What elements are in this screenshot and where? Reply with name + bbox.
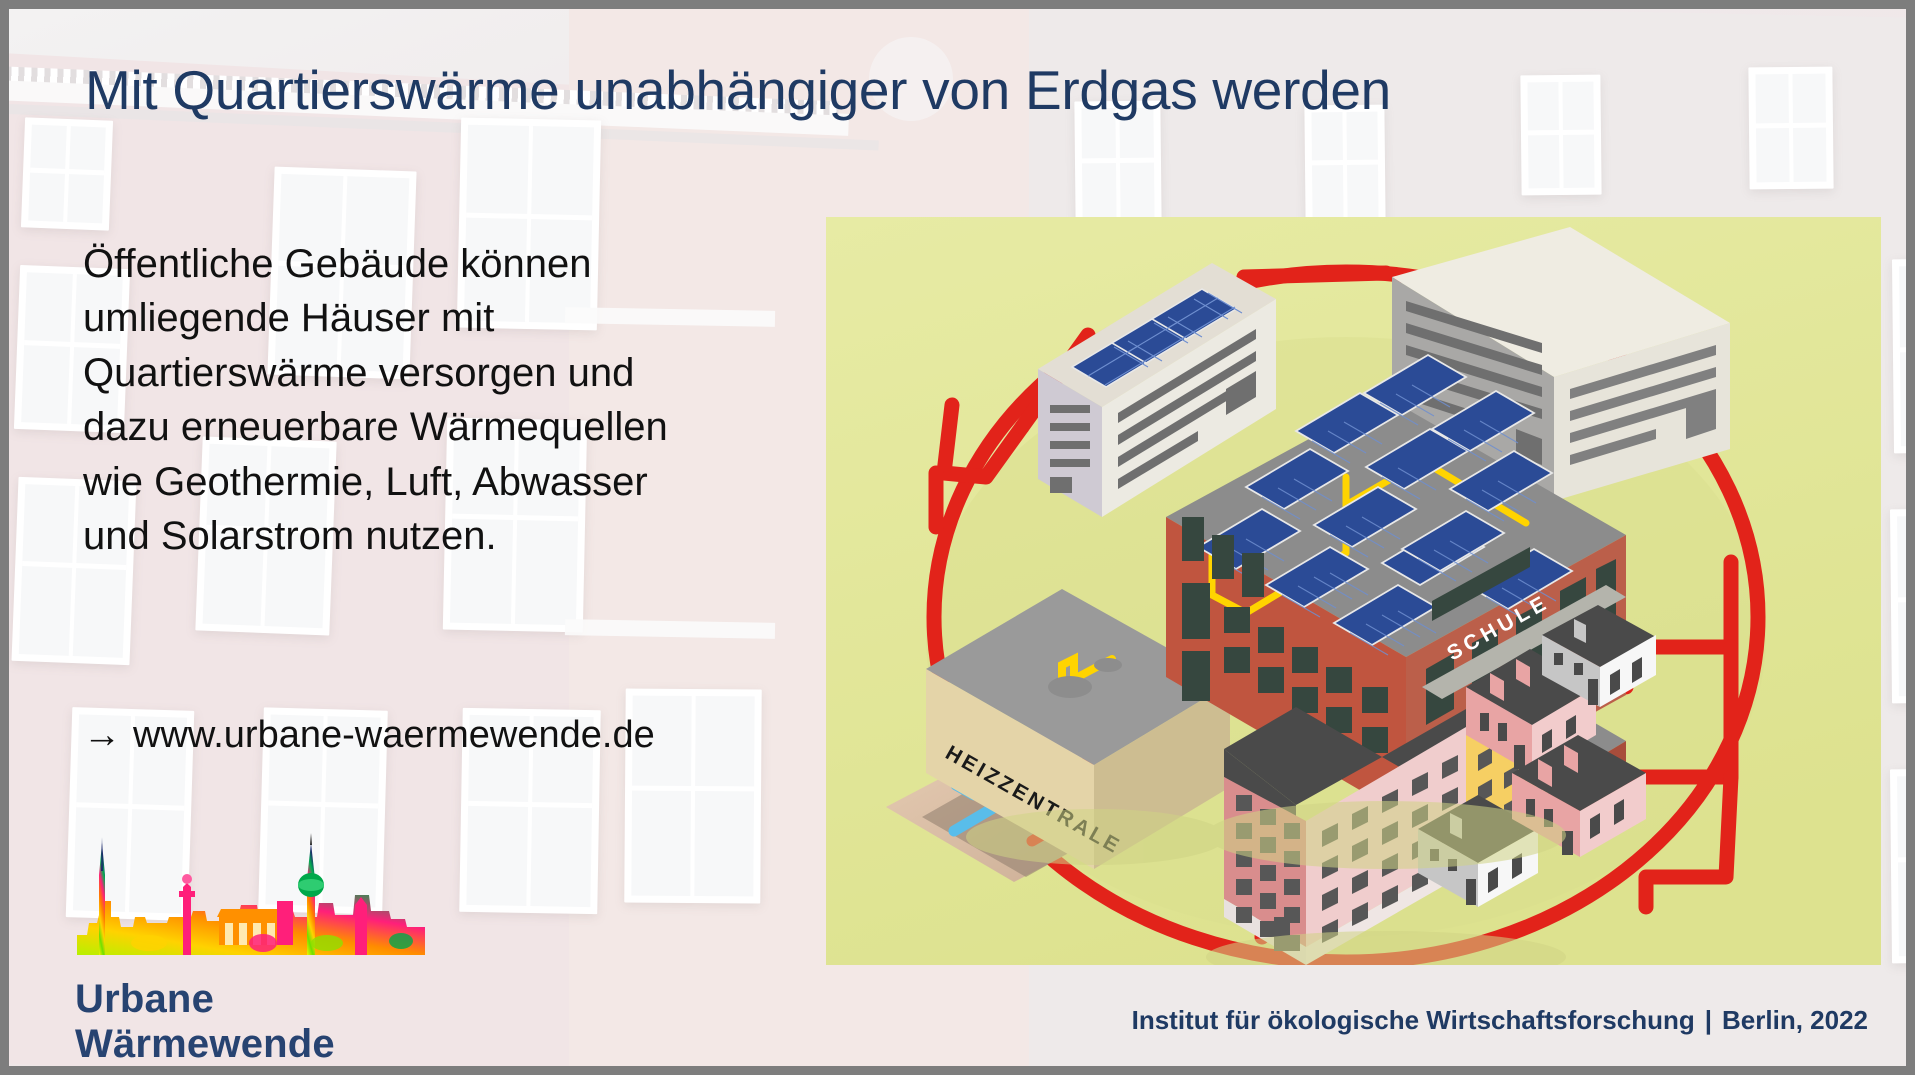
logo-wordmark: Urbane Wärmewende [75,977,431,1067]
urbane-waermewende-logo[interactable]: Urbane Wärmewende [71,831,431,1031]
photo-window [1304,105,1385,226]
illustration-panel: HEIZZENTRALE [826,217,1881,965]
photo-window [1892,259,1906,454]
footer-place-year: Berlin, 2022 [1722,1005,1868,1035]
footer-credit: Institut für ökologische Wirtschaftsfors… [1132,1005,1868,1036]
website-link[interactable]: →www.urbane-waermewende.de [83,714,803,757]
footer-institute: Institut für ökologische Wirtschaftsfors… [1132,1005,1695,1035]
page-title: Mit Quartierswärme unabhängiger von Erdg… [85,61,1415,120]
footer-separator: | [1695,1005,1722,1036]
photo-window [1748,67,1833,190]
slide-canvas: Mit Quartierswärme unabhängiger von Erdg… [0,0,1915,1075]
photo-window [1890,769,1906,964]
photo-window [21,117,113,230]
photo-window [1890,509,1906,704]
photo-window [1520,75,1601,196]
quartierswaerme-isometric-diagram: HEIZZENTRALE [826,217,1881,965]
website-url-text: www.urbane-waermewende.de [133,714,655,756]
body-paragraph: Öffentliche Gebäude können umliegende Hä… [83,237,703,563]
berlin-skyline-icon [71,831,431,981]
arrow-right-icon: → [83,714,121,757]
